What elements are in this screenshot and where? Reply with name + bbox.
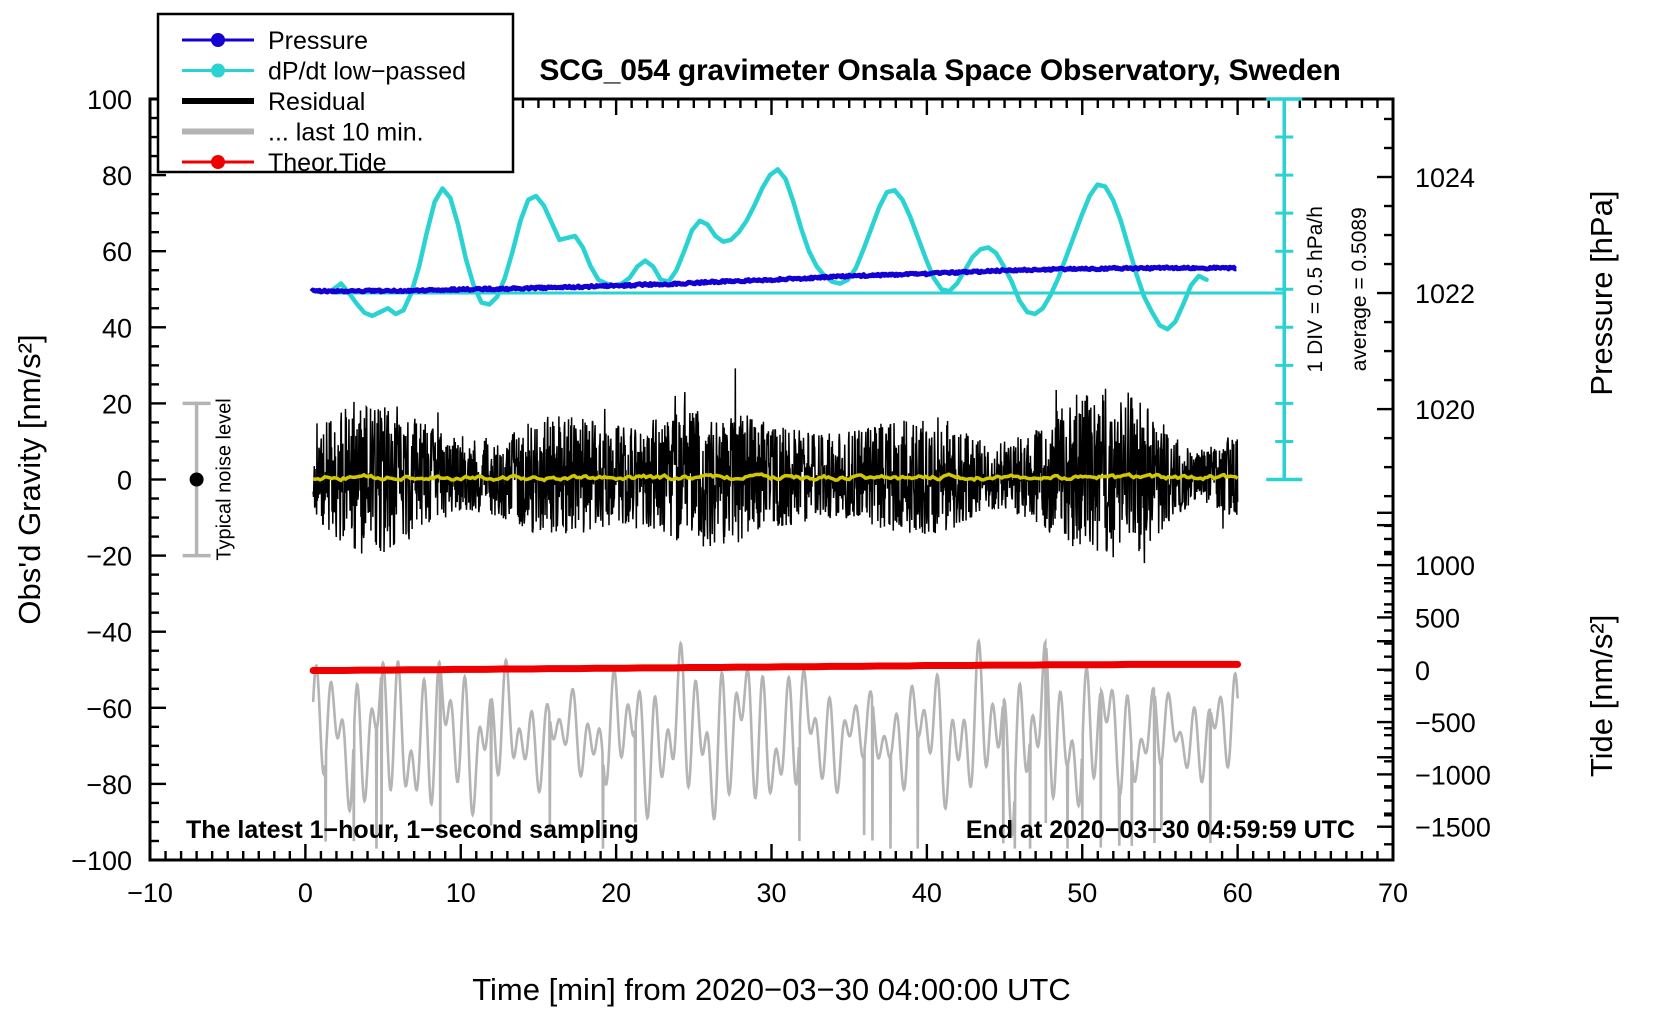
y-tick-label: −20 bbox=[86, 542, 132, 572]
legend-label: Theor.Tide bbox=[268, 149, 387, 177]
chart-title: SCG_054 gravimeter Onsala Space Observat… bbox=[539, 54, 1340, 87]
y-tick-label: 0 bbox=[117, 466, 132, 496]
y-tick-label: −40 bbox=[86, 618, 132, 648]
legend-label: Residual bbox=[268, 88, 365, 116]
legend-label: Pressure bbox=[268, 27, 368, 55]
x-tick-label: −10 bbox=[127, 878, 173, 908]
series-pressure bbox=[312, 267, 1237, 292]
tide-axis-title: Tide [nm/s²] bbox=[1584, 615, 1619, 778]
legend[interactable]: PressuredP/dt low−passedResidual... last… bbox=[158, 14, 513, 177]
y-tick-label: 40 bbox=[102, 313, 132, 343]
gravimeter-plot-page: −10010203040506070Time [min] from 2020−0… bbox=[0, 0, 1660, 1020]
y-axis-gravity: −100−80−60−40−20020406080100Obs'd Gravit… bbox=[12, 85, 166, 876]
y-tick-label: 80 bbox=[102, 161, 132, 191]
div-scale-label: 1 DIV = 0.5 hPa/h bbox=[1304, 206, 1327, 372]
tide-tick-label: 500 bbox=[1415, 603, 1460, 633]
y-tick-label: 20 bbox=[102, 389, 132, 419]
y-axis-tide: 10005000−500−1000−1500Tide [nm/s²] bbox=[1377, 513, 1619, 843]
x-tick-label: 50 bbox=[1067, 878, 1097, 908]
x-axis: −10010203040506070Time [min] from 2020−0… bbox=[127, 99, 1408, 1007]
x-tick-label: 40 bbox=[912, 878, 942, 908]
tide-tick-label: −500 bbox=[1415, 708, 1476, 738]
y-tick-label: 100 bbox=[87, 85, 132, 115]
div-scale-bar: 1 DIV = 0.5 hPa/haverage = 0.5089 bbox=[1266, 99, 1371, 480]
tide-tick-label: 0 bbox=[1415, 656, 1430, 686]
noise-level-label: Typical noise level bbox=[214, 398, 236, 560]
legend-label: ... last 10 min. bbox=[268, 119, 424, 147]
legend-marker bbox=[211, 155, 225, 169]
y-tick-label: −60 bbox=[86, 694, 132, 724]
x-tick-label: 30 bbox=[756, 878, 786, 908]
series-residual bbox=[313, 368, 1237, 563]
pressure-tick-label: 1020 bbox=[1415, 395, 1475, 425]
legend-label: dP/dt low−passed bbox=[268, 58, 466, 86]
pressure-axis-title: Pressure [hPa] bbox=[1584, 191, 1619, 396]
x-tick-label: 0 bbox=[298, 878, 313, 908]
y-tick-label: −100 bbox=[71, 846, 132, 876]
pressure-tick-label: 1022 bbox=[1415, 279, 1475, 309]
footer-right-note: End at 2020−03−30 04:59:59 UTC bbox=[966, 816, 1355, 844]
x-tick-label: 70 bbox=[1378, 878, 1408, 908]
legend-marker bbox=[211, 64, 225, 78]
series-dpdt bbox=[333, 169, 1284, 329]
x-axis-title: Time [min] from 2020−03−30 04:00:00 UTC bbox=[472, 972, 1071, 1007]
tide-tick-label: −1000 bbox=[1415, 760, 1491, 790]
pressure-tick-label: 1024 bbox=[1415, 163, 1475, 193]
y-tick-label: −80 bbox=[86, 770, 132, 800]
series-theor-tide bbox=[313, 664, 1237, 670]
y-axis-pressure: 102010221024Pressure [hPa] bbox=[1377, 119, 1619, 844]
average-label: average = 0.5089 bbox=[1348, 207, 1371, 371]
legend-marker bbox=[211, 33, 225, 47]
x-tick-label: 20 bbox=[601, 878, 631, 908]
x-tick-label: 10 bbox=[446, 878, 476, 908]
gravimeter-chart: −10010203040506070Time [min] from 2020−0… bbox=[0, 0, 1660, 1020]
y-axis-title: Obs'd Gravity [nm/s²] bbox=[12, 334, 47, 624]
tide-tick-label: −1500 bbox=[1415, 813, 1491, 843]
noise-level-marker: Typical noise level bbox=[183, 398, 236, 560]
y-tick-label: 60 bbox=[102, 237, 132, 267]
tide-tick-label: 1000 bbox=[1415, 551, 1475, 581]
footer-left-note: The latest 1−hour, 1−second sampling bbox=[186, 816, 639, 844]
x-tick-label: 60 bbox=[1223, 878, 1253, 908]
